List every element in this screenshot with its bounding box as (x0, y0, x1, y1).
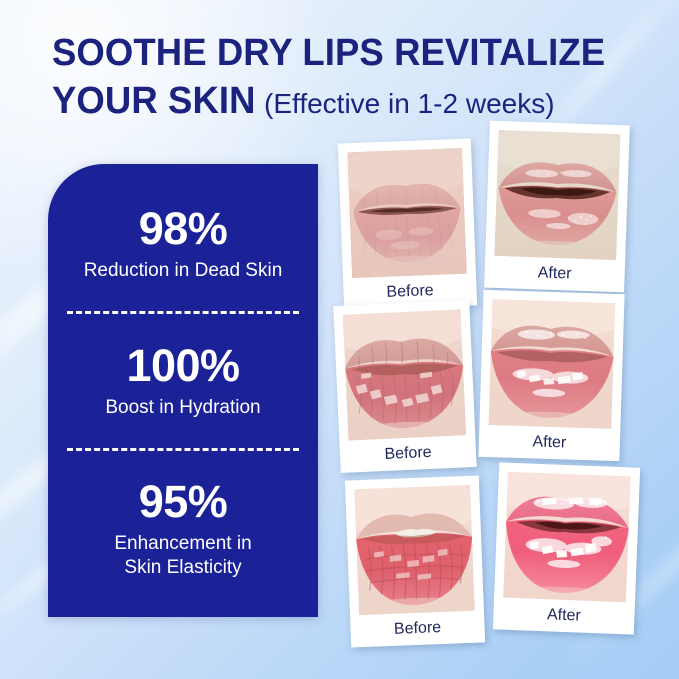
photo-caption-after: After (487, 425, 611, 461)
stat-block-elasticity: 95% Enhancement in Skin Elasticity (48, 477, 318, 580)
lips-photo-after (503, 472, 631, 603)
photo-caption-before: Before (359, 611, 476, 647)
stat-label: Boost in Hydration (62, 396, 304, 420)
lips-photo-after (488, 299, 615, 429)
stat-label-line-2: Skin Elasticity (62, 556, 304, 580)
stat-label: Reduction in Dead Skin (62, 259, 304, 283)
stat-label-line-1: Enhancement in (62, 532, 304, 556)
headline-emphasis: YOUR SKIN (52, 78, 256, 124)
stat-label: Enhancement in Skin Elasticity (62, 532, 304, 580)
divider (67, 448, 299, 451)
stat-value: 98% (62, 204, 304, 254)
photo-caption-after: After (502, 598, 626, 635)
stat-block-dead-skin: 98% Reduction in Dead Skin (48, 204, 318, 283)
stat-block-hydration: 100% Boost in Hydration (48, 341, 318, 420)
photo-card-after: After (478, 290, 624, 461)
photo-caption-before: Before (348, 435, 467, 472)
stat-value: 100% (62, 341, 304, 391)
photo-caption-after: After (493, 256, 616, 292)
photo-card-after: After (493, 462, 640, 634)
photo-card-before: Before (338, 139, 477, 311)
lips-photo-before (347, 148, 467, 278)
divider (67, 311, 299, 314)
lips-photo-after (494, 130, 620, 260)
lips-photo-before (354, 485, 475, 615)
headline-line-1: SOOTHE DRY LIPS REVITALIZE (52, 30, 628, 76)
page-title: SOOTHE DRY LIPS REVITALIZE YOUR SKIN(Eff… (52, 30, 652, 132)
stat-value: 95% (62, 477, 304, 527)
photo-card-after: After (484, 121, 630, 293)
photo-card-before: Before (333, 300, 476, 473)
lips-photo-before (343, 309, 467, 440)
stats-panel: 98% Reduction in Dead Skin 100% Boost in… (48, 164, 318, 617)
photo-card-before: Before (345, 475, 485, 647)
headline-subnote: (Effective in 1-2 weeks) (264, 88, 555, 119)
infographic-canvas: SOOTHE DRY LIPS REVITALIZE YOUR SKIN(Eff… (0, 0, 679, 679)
